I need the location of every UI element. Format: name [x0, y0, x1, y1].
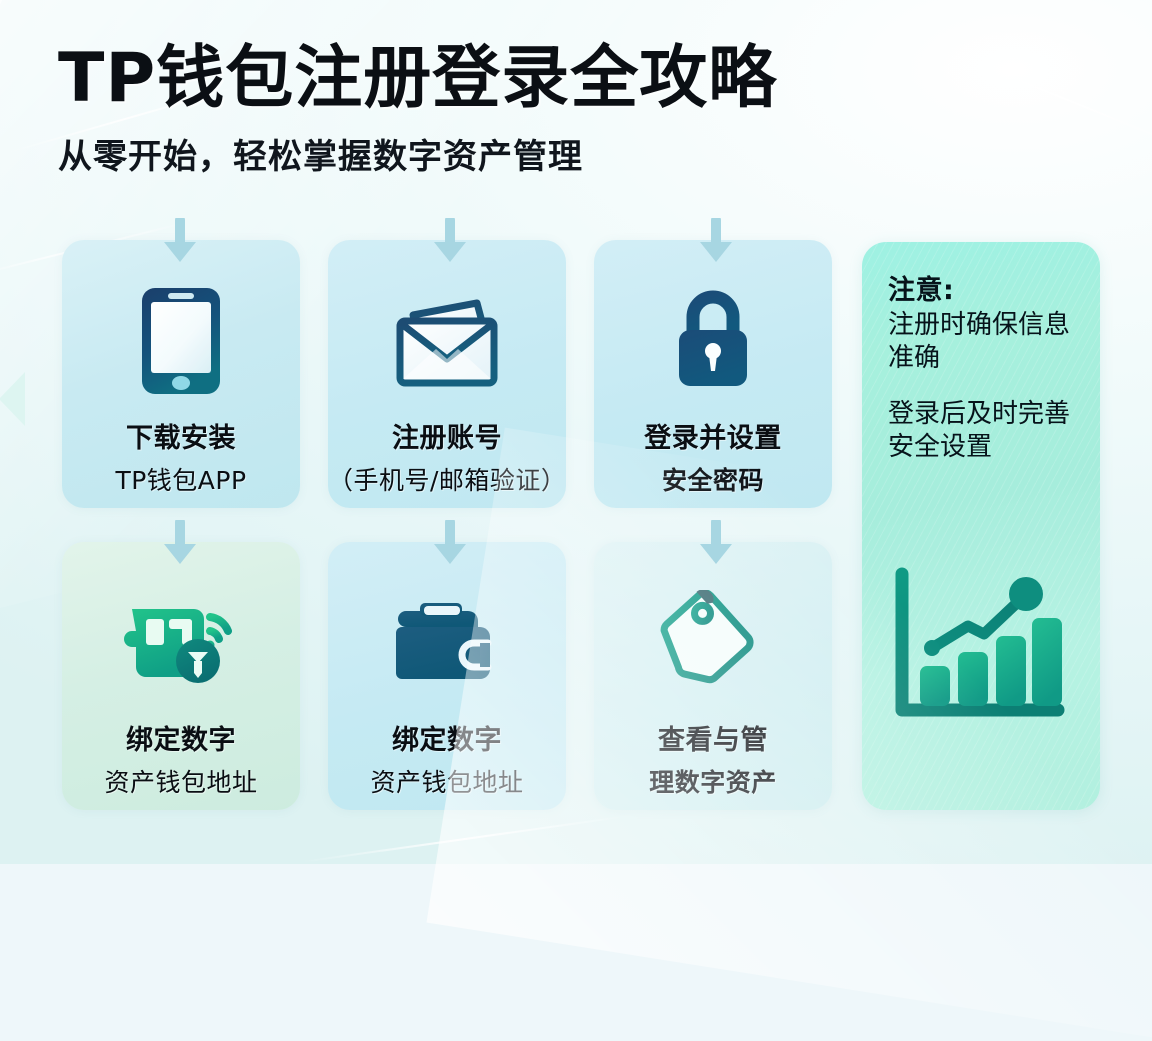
step-label-secondary: 资产钱包地址: [62, 763, 300, 799]
notice-panel: 注意: 注册时确保信息准确 登录后及时完善安全设置: [862, 242, 1100, 810]
step-label-secondary: 资产钱包地址: [328, 763, 566, 799]
background-streak: [301, 815, 628, 863]
step-label-secondary: TP钱包APP: [62, 461, 300, 497]
page-subtitle: 从零开始，轻松掌握数字资产管理: [58, 129, 998, 178]
step-label-secondary: 理数字资产: [594, 763, 832, 799]
step-card-bind-address-nfc[interactable]: 绑定数字 资产钱包地址: [62, 542, 300, 810]
nfc-payment-verified-icon: [122, 582, 240, 704]
arrow-down-icon: [694, 218, 738, 264]
arrow-down-icon: [694, 520, 738, 566]
notice-heading: 注意:: [888, 268, 1084, 307]
notice-body-second: 登录后及时完善安全设置: [888, 398, 1084, 465]
step-card-manage-assets[interactable]: 查看与管 理数字资产: [594, 542, 832, 810]
smartphone-icon: [138, 280, 224, 402]
step-card-download[interactable]: 下载安装 TP钱包APP: [62, 240, 300, 508]
step-label-primary: 绑定数字: [328, 718, 566, 757]
price-tag-icon: [657, 582, 769, 704]
step-label-primary: 查看与管: [594, 718, 832, 757]
lock-icon: [667, 280, 759, 402]
arrow-down-icon: [158, 520, 202, 566]
notice-body-first: 注册时确保信息准确: [888, 309, 1084, 376]
step-label-secondary: （手机号/邮箱验证）: [328, 461, 566, 497]
arrow-down-icon: [158, 218, 202, 264]
step-card-login-password[interactable]: 登录并设置 安全密码: [594, 240, 832, 508]
step-label-secondary: 安全密码: [594, 461, 832, 497]
envelope-icon: [391, 280, 503, 402]
step-card-bind-address-wallet[interactable]: 绑定数字 资产钱包地址: [328, 542, 566, 810]
notice-text-block: 注意: 注册时确保信息准确 登录后及时完善安全设置: [862, 242, 1100, 464]
step-label-primary: 登录并设置: [594, 416, 832, 455]
arrow-left-notch-icon: [0, 372, 25, 426]
wallet-icon: [392, 582, 502, 704]
infographic-canvas: TP钱包注册登录全攻略 从零开始，轻松掌握数字资产管理: [0, 0, 1152, 864]
step-label-primary: 注册账号: [328, 416, 566, 455]
growth-chart-icon: [880, 560, 1080, 756]
arrow-down-icon: [428, 520, 472, 566]
step-label-primary: 下载安装: [62, 416, 300, 455]
page-title: TP钱包注册登录全攻略: [58, 44, 998, 115]
step-label-primary: 绑定数字: [62, 718, 300, 757]
arrow-down-icon: [428, 218, 472, 264]
step-card-register[interactable]: 注册账号 （手机号/邮箱验证）: [328, 240, 566, 508]
header: TP钱包注册登录全攻略 从零开始，轻松掌握数字资产管理: [58, 44, 998, 178]
